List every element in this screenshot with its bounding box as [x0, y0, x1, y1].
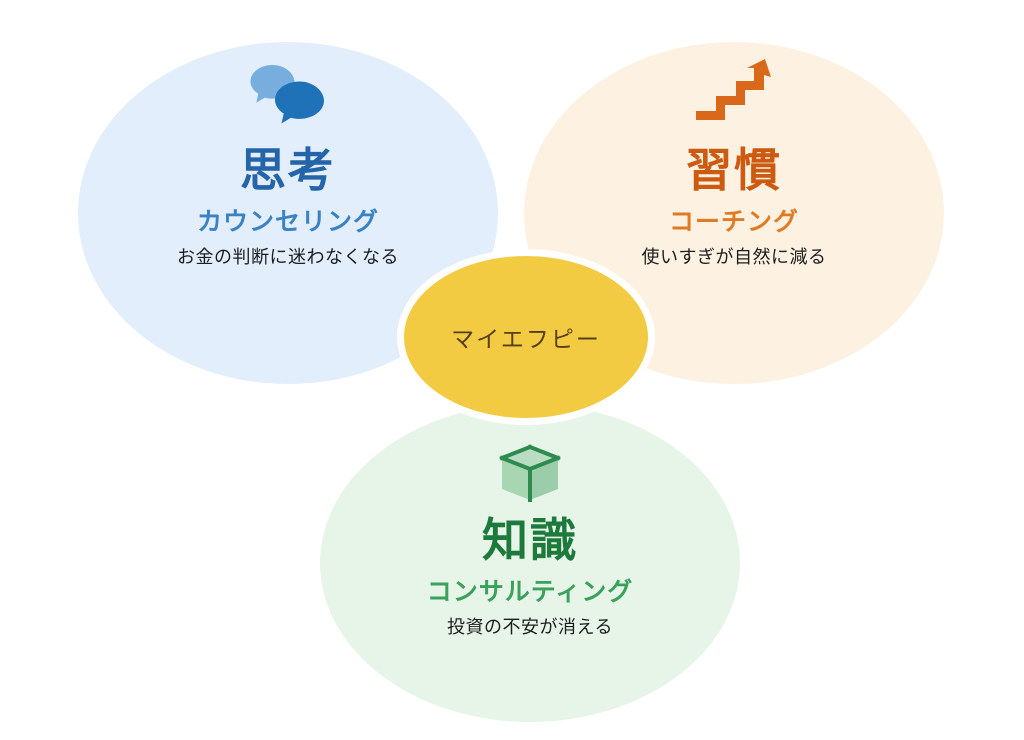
lobe-heading: 思考 — [78, 146, 498, 196]
lobe-description: 投資の不安が消える — [320, 613, 740, 639]
cube-box-icon — [320, 430, 740, 506]
lobe-knowledge: 知識 コンサルティング 投資の不安が消える — [320, 430, 740, 639]
lobe-heading: 知識 — [320, 516, 740, 566]
lobe-heading: 習慣 — [524, 146, 944, 196]
lobe-habit: 習慣 コーチング 使いすぎが自然に減る — [524, 52, 944, 269]
lobe-thinking: 思考 カウンセリング お金の判断に迷わなくなる — [78, 52, 498, 269]
lobe-subheading: コーチング — [524, 202, 944, 238]
stairs-up-arrow-icon — [524, 52, 944, 128]
lobe-subheading: コンサルティング — [320, 572, 740, 608]
lobe-subheading: カウンセリング — [78, 202, 498, 238]
lobe-description: お金の判断に迷わなくなる — [78, 243, 498, 269]
center-hub-label: マイエフピー — [451, 320, 601, 354]
diagram-canvas: 思考 カウンセリング お金の判断に迷わなくなる 習慣 コーチング 使いすぎが自然… — [0, 0, 1024, 740]
center-hub[interactable]: マイエフピー — [397, 249, 655, 425]
speech-bubbles-icon — [78, 52, 498, 128]
